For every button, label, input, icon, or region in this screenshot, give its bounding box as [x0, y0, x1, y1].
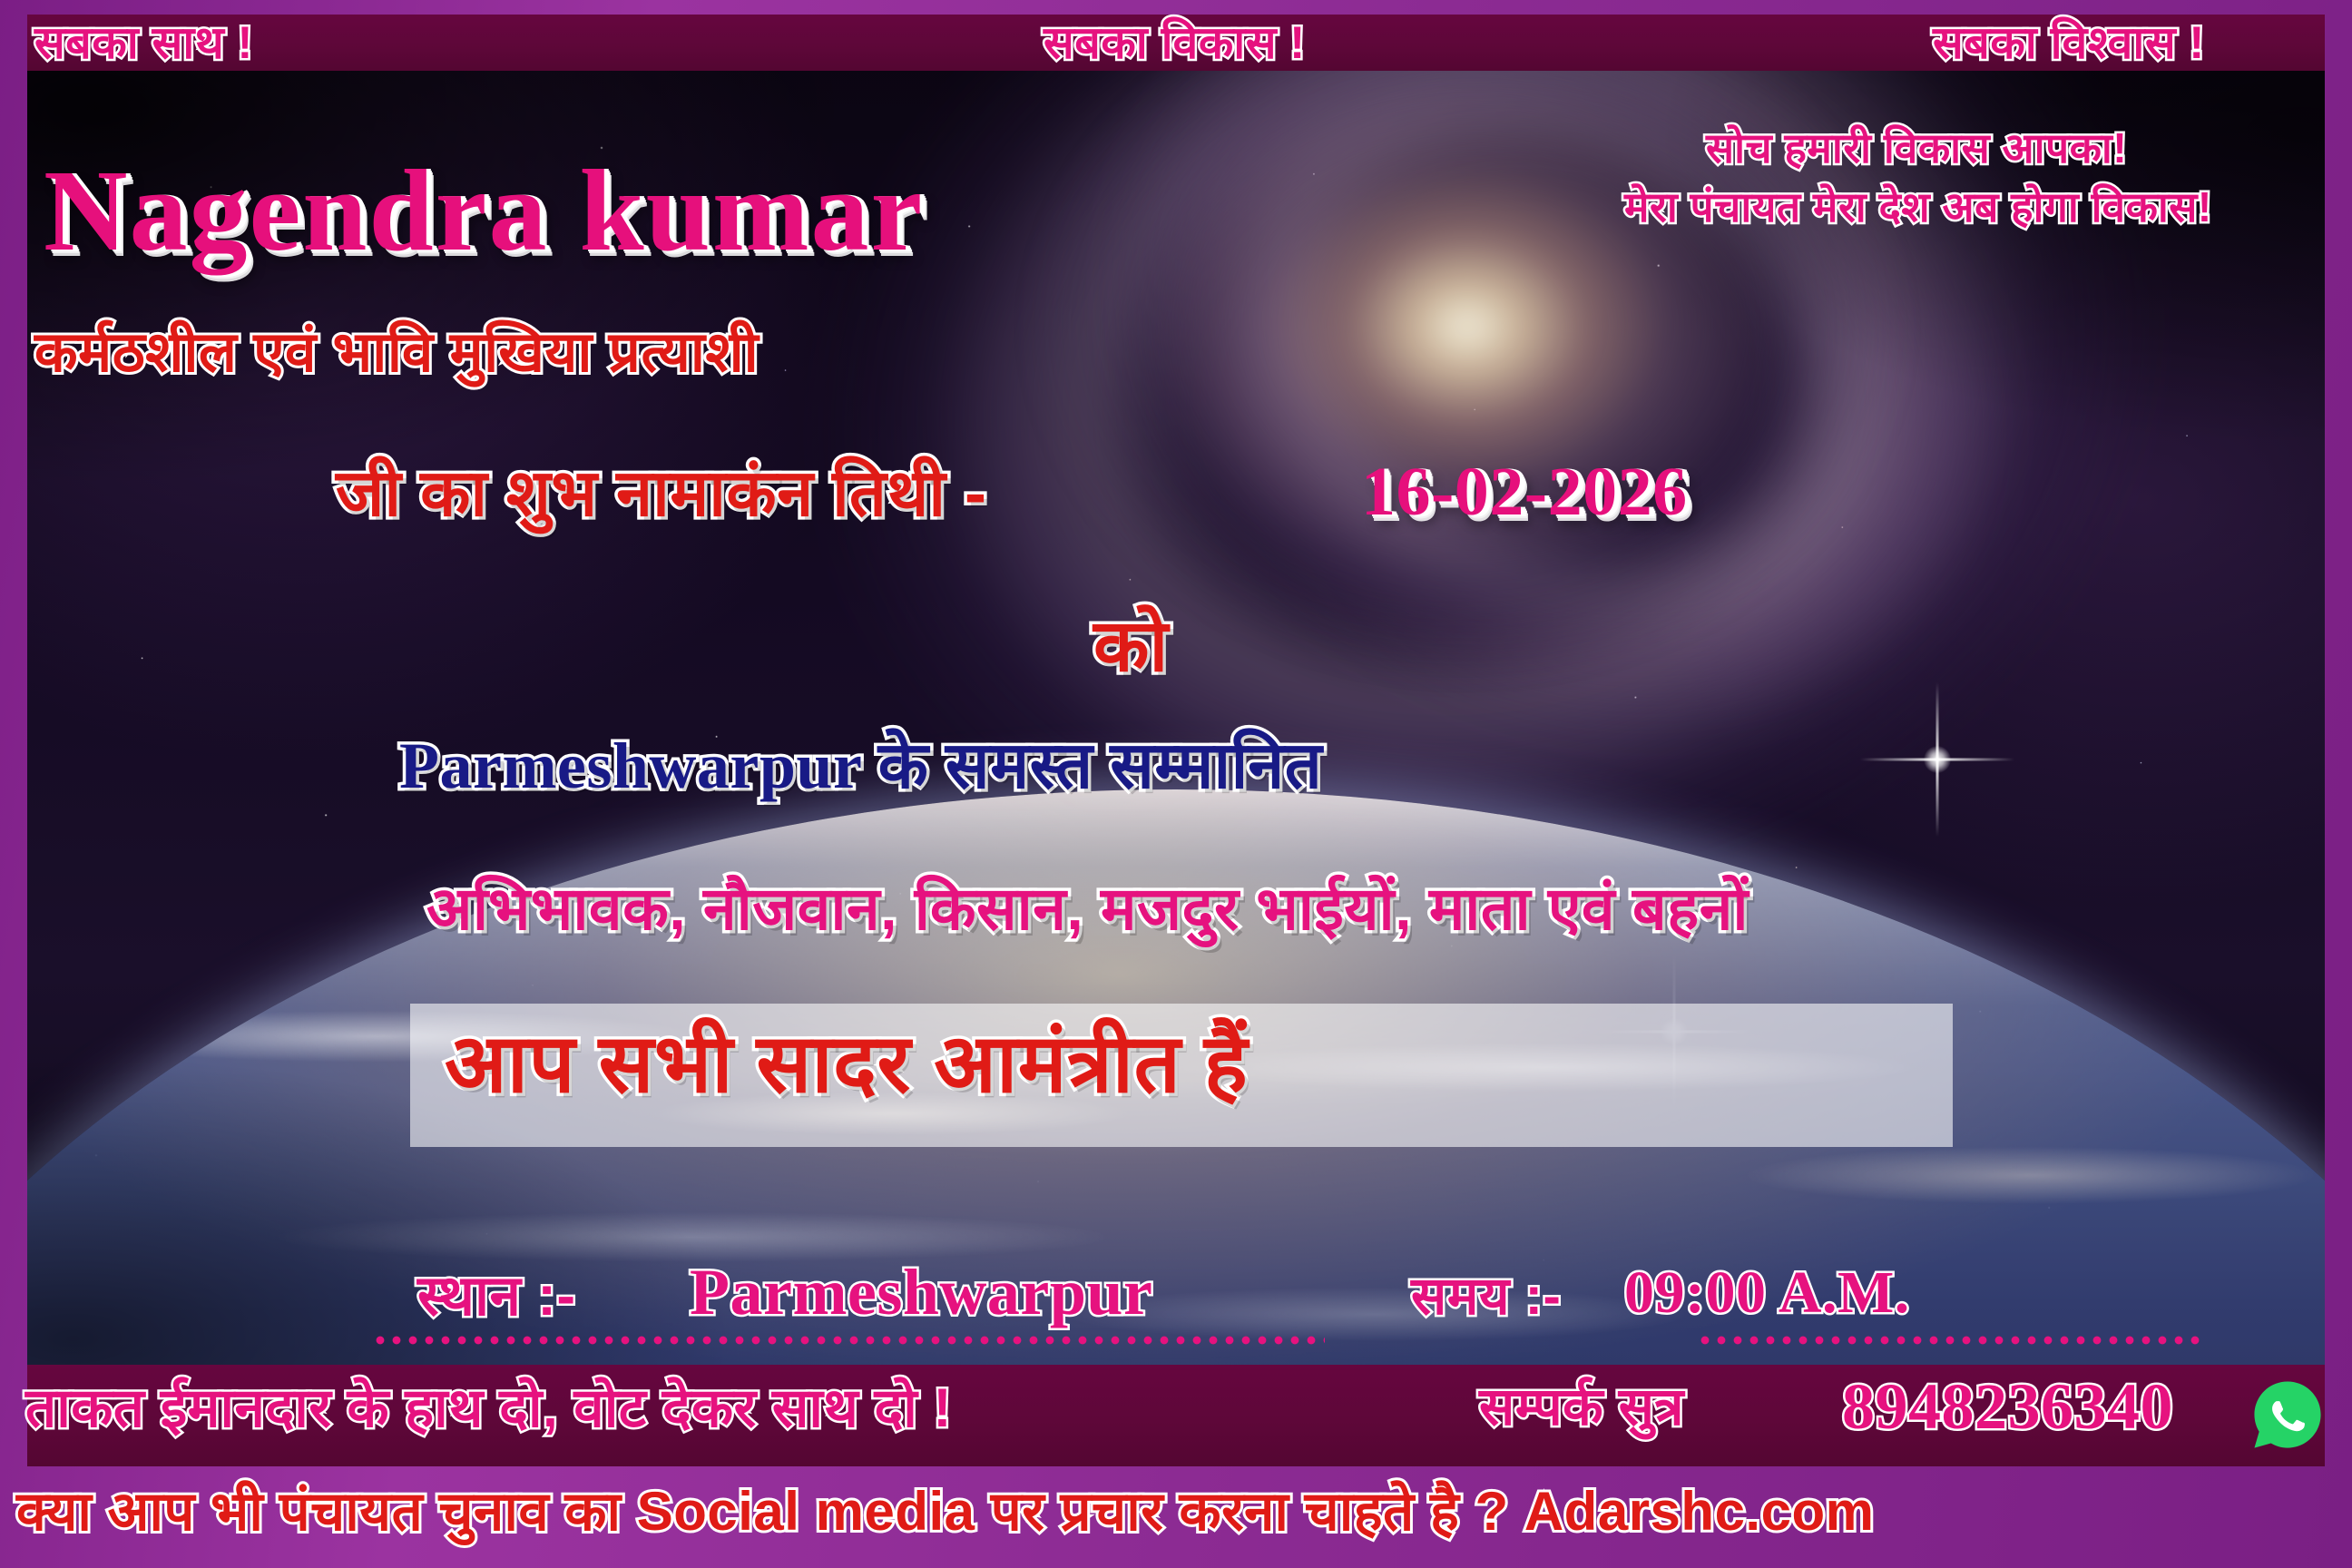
- tagline-line-2: मेरा पंचायत मेरा देश अब होगा विकास!: [1624, 186, 2212, 228]
- time-value: 09:00 A.M.: [1624, 1263, 1910, 1323]
- venue-value: Parmeshwarpur: [690, 1259, 1152, 1325]
- village-line: Parmeshwarpur के समस्त सम्मानित: [399, 733, 1322, 799]
- contact-label: सम्पर्क सुत्र: [1479, 1381, 1684, 1434]
- time-label: समय :-: [1411, 1270, 1561, 1323]
- audience-line: अभिभावक, नौजवान, किसान, मजदुर भाईयों, मा…: [426, 878, 1749, 938]
- footer-slogan: ताकत ईमानदार के हाथ दो, वोट देकर साथ दो …: [25, 1381, 952, 1436]
- slogan-sabka-vishwas: सबका विश्वास !: [1933, 20, 2205, 65]
- connector-ko: को: [1093, 610, 1169, 682]
- dotted-underline: [1697, 1336, 2205, 1345]
- tagline-line-1: सोच हमारी विकास आपका!: [1706, 127, 2127, 169]
- candidate-name: Nagendra kumar: [44, 152, 924, 269]
- whatsapp-icon[interactable]: [2252, 1379, 2323, 1450]
- campaign-poster: सबका साथ ! सबका विकास ! सबका विश्वास ! स…: [0, 0, 2352, 1568]
- contact-phone-number[interactable]: 8948236340: [1842, 1374, 2173, 1439]
- invitation-line: आप सभी सादर आमंत्रीत हैं: [445, 1024, 1248, 1105]
- nomination-date-value: 16-02-2026: [1361, 457, 1688, 526]
- nomination-date-label: जी का शुभ नामाकंन तिथी -: [336, 461, 987, 526]
- dotted-underline: [372, 1336, 1325, 1345]
- venue-label: स्थान :-: [417, 1269, 575, 1325]
- slogan-sabka-vikas: सबका विकास !: [1044, 20, 1306, 65]
- candidate-role: कर्मठशील एवं भावि मुखिया प्रत्याशी: [34, 325, 759, 381]
- slogan-sabka-saath: सबका साथ !: [34, 20, 253, 65]
- footer-promo-text: क्या आप भी पंचायत चुनाव का Social media …: [16, 1485, 1874, 1539]
